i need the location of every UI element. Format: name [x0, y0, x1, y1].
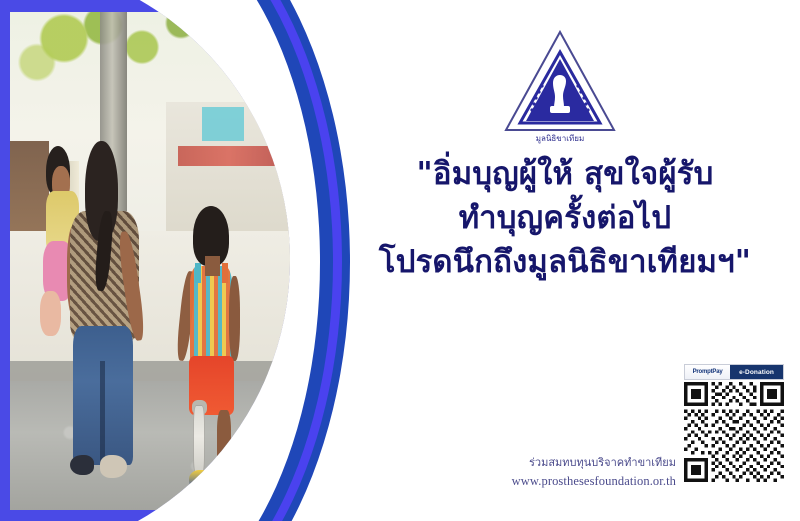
headline-line-2: ทำบุญครั้งต่อไป	[330, 196, 800, 240]
headline-line-1: "อิ่มบุญผู้ให้ สุขใจผู้รับ	[330, 152, 800, 196]
photo-child-left-shoe	[189, 470, 213, 490]
qr-code-image[interactable]	[684, 382, 784, 482]
photo-baby-foot	[40, 291, 61, 336]
photo-child-strap-left	[195, 263, 201, 283]
photo-mother-right-shoe	[100, 455, 127, 477]
photo-mother-leg-gap	[100, 361, 105, 466]
photo-child-strap-right	[222, 263, 228, 283]
photo-panel	[0, 0, 320, 521]
photo-child-prosthetic-leg	[193, 405, 205, 475]
footer-website-url[interactable]: www.prosthesesfoundation.or.th	[330, 472, 686, 491]
content-panel: มูลนิธิขาเทียม "อิ่มบุญผู้ให้ สุขใจผู้รั…	[330, 0, 800, 521]
photo-child-leg	[217, 410, 231, 475]
headline: "อิ่มบุญผู้ให้ สุขใจผู้รับ ทำบุญครั้งต่อ…	[330, 152, 800, 284]
photo-child-right-shoe	[214, 470, 238, 490]
qr-header-bar: PromptPay e-Donation	[684, 364, 784, 380]
promptpay-logo: PromptPay	[685, 365, 730, 379]
footer-thai-text: ร่วมสมทบทุนบริจาคทำขาเทียม	[330, 455, 686, 472]
photo-mother-left-shoe	[70, 455, 94, 475]
photo-shop-sign	[202, 107, 244, 142]
headline-line-3: โปรดนึกถึงมูลนิธิขาเทียมฯ"	[330, 240, 800, 284]
photo-child-neck	[205, 256, 220, 276]
photo-awning	[178, 146, 280, 166]
banner-canvas: มูลนิธิขาเทียม "อิ่มบุญผู้ให้ สุขใจผู้รั…	[0, 0, 800, 521]
edonation-label: e-Donation	[730, 365, 783, 379]
footer: ร่วมสมทบทุนบริจาคทำขาเทียม www.prosthese…	[330, 455, 686, 490]
donation-photo	[10, 12, 310, 510]
foundation-logo-icon: มูลนิธิขาเทียม	[500, 26, 620, 150]
donation-qr-block[interactable]: PromptPay e-Donation	[684, 364, 788, 482]
logo-caption: มูลนิธิขาเทียม	[536, 134, 584, 144]
photo-child-right-arm	[229, 276, 240, 361]
photo-road	[10, 381, 310, 510]
